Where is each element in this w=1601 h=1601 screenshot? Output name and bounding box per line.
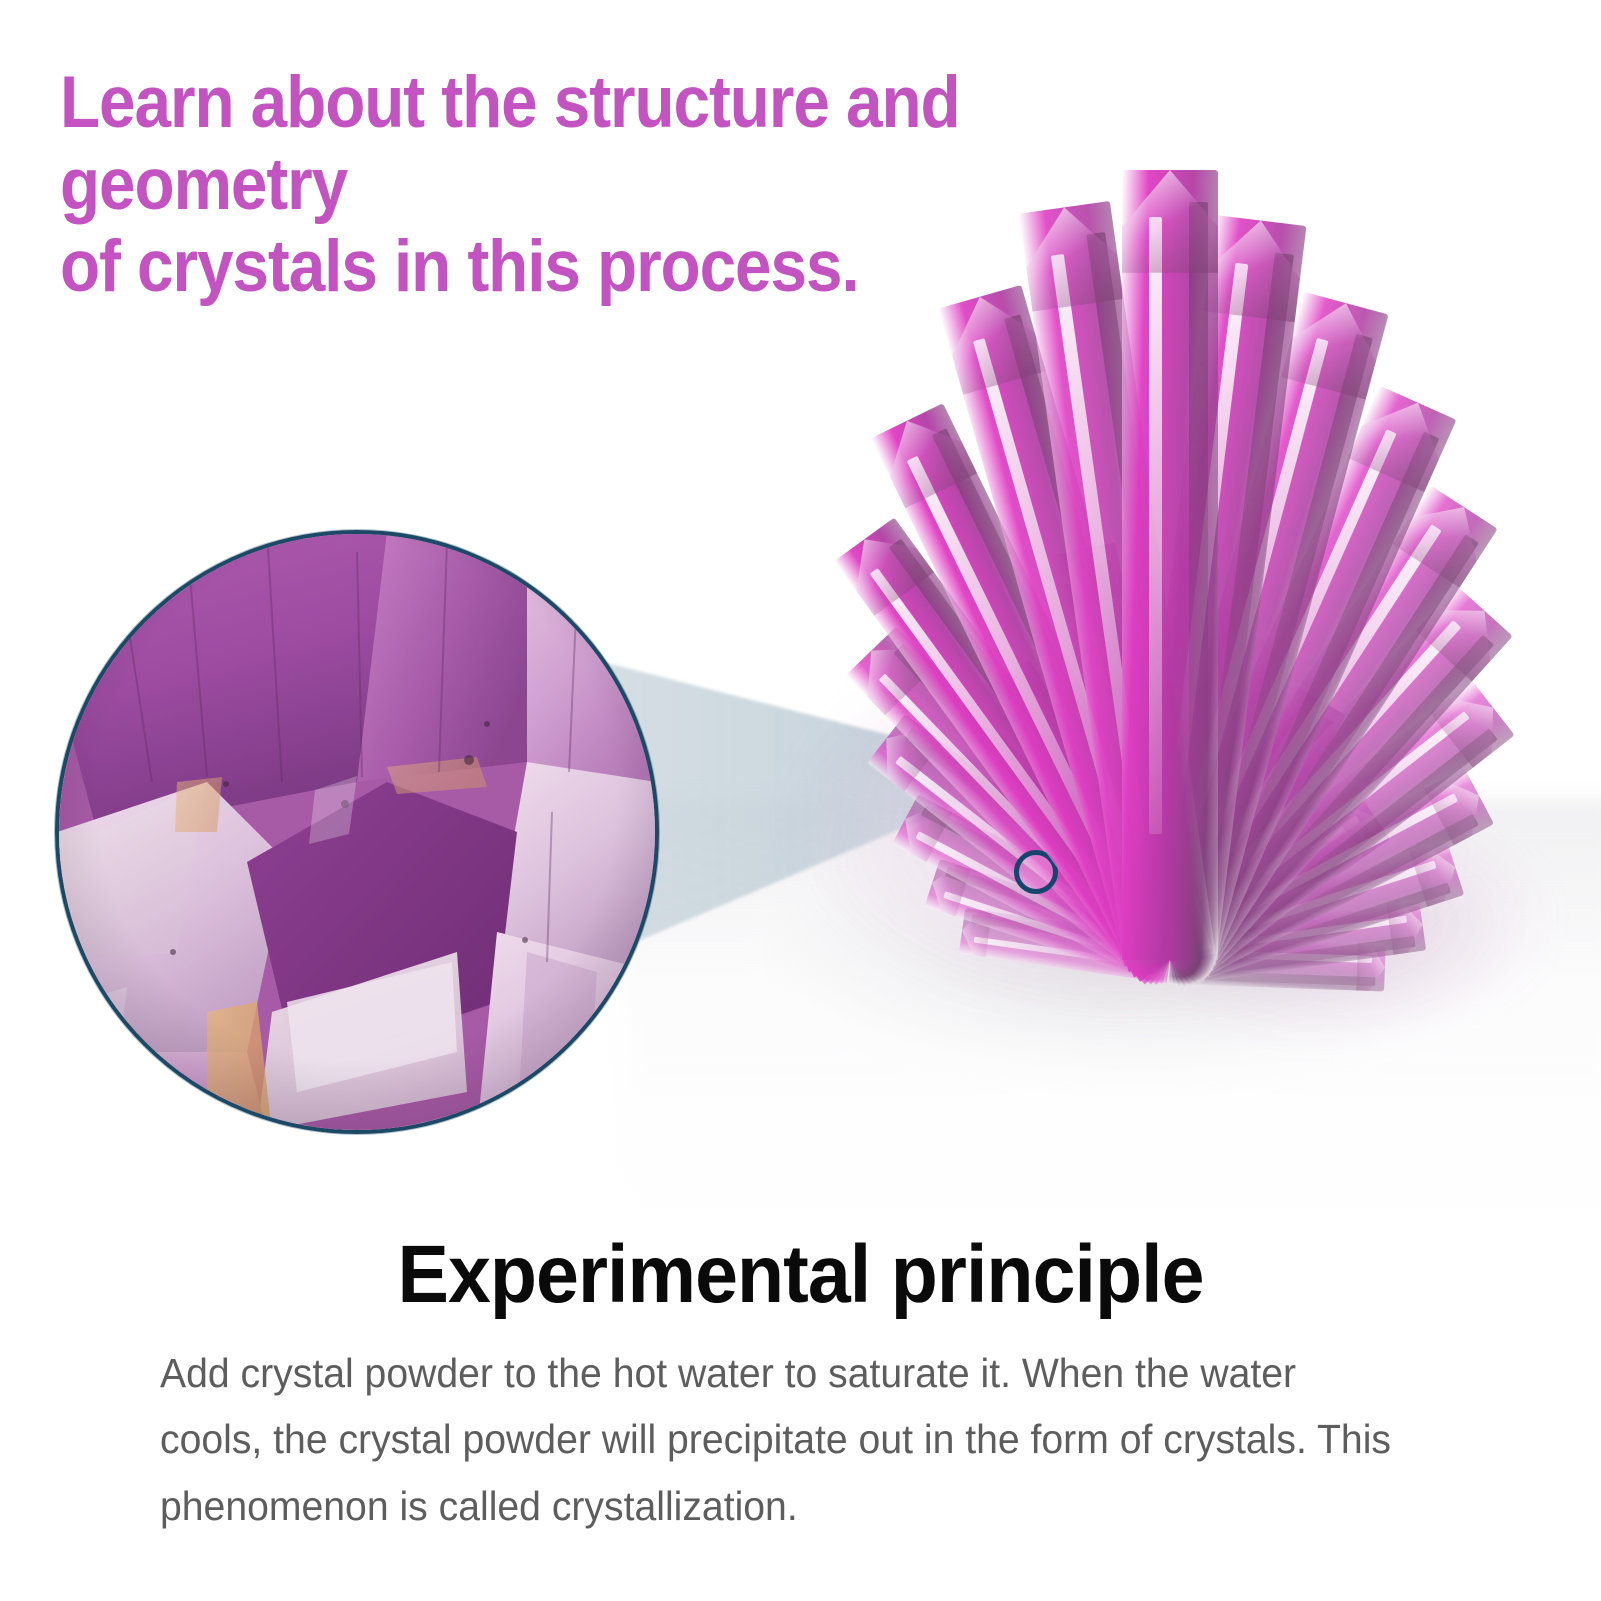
page-headline: Learn about the structure and geometry o… bbox=[60, 62, 1230, 307]
crystal-spike-highlight bbox=[1149, 217, 1162, 833]
magnified-crystal-closeup bbox=[55, 530, 659, 1134]
promo-infographic: Learn about the structure and geometry o… bbox=[0, 0, 1601, 1601]
section-body-text: Add crystal powder to the hot water to s… bbox=[160, 1340, 1392, 1539]
amethyst-facets bbox=[57, 532, 657, 1132]
section-title: Experimental principle bbox=[48, 1228, 1553, 1322]
